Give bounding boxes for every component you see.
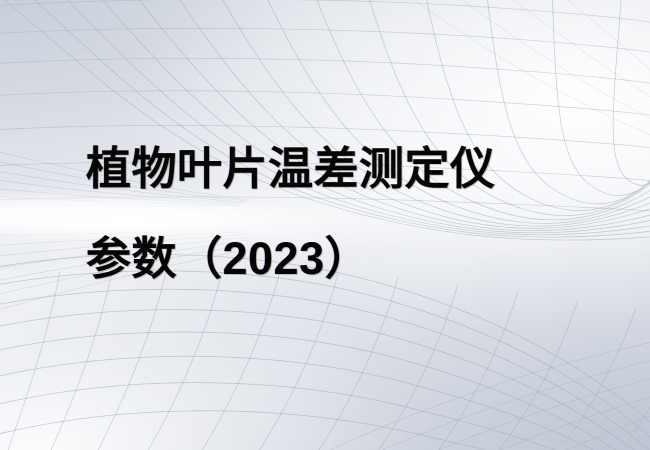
page-title: 植物叶片温差测定仪 参数（2023） xyxy=(86,124,626,304)
title-slide: 植物叶片温差测定仪 参数（2023） xyxy=(0,0,650,450)
title-line-1: 植物叶片温差测定仪 xyxy=(86,124,626,214)
title-line-2: 参数（2023） xyxy=(86,214,626,304)
